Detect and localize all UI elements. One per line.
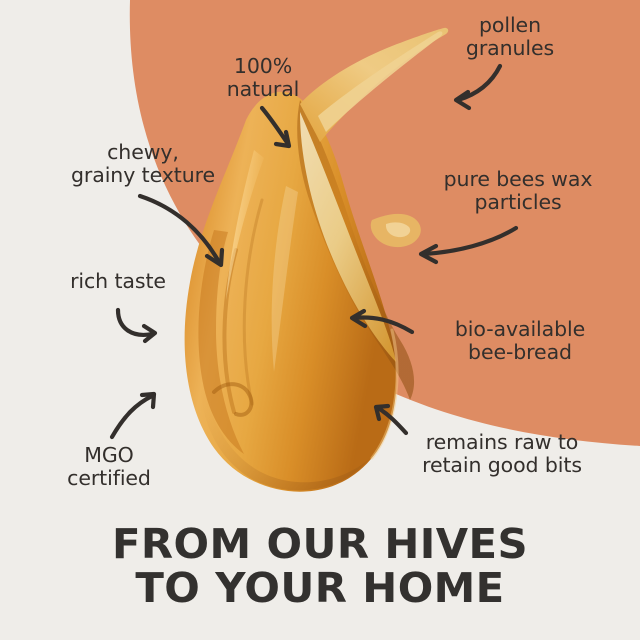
callout-label-rich-taste: rich taste <box>48 270 188 293</box>
arrow-down-right-icon <box>262 108 289 146</box>
poster-canvas: 100% natural pollen granules chewy, grai… <box>0 0 640 640</box>
arrow-up-left-icon <box>376 406 406 433</box>
callout-label-natural: 100% natural <box>188 55 338 102</box>
arrow-curve-down-right-icon <box>140 196 222 265</box>
arrow-down-left-icon <box>456 66 500 108</box>
callout-label-mgo-certified: MGO certified <box>48 444 170 491</box>
callout-label-bio-available-bee-bread: bio-available bee-bread <box>414 318 626 365</box>
headline-text: FROM OUR HIVES TO YOUR HOME <box>0 523 640 611</box>
callout-label-pure-bees-wax-particles: pure bees wax particles <box>410 168 626 215</box>
arrow-up-right-icon <box>112 394 154 437</box>
arrow-left-icon <box>352 311 412 332</box>
callout-label-chewy-grainy-texture: chewy, grainy texture <box>48 141 238 188</box>
arrow-curve-left-icon <box>421 228 516 262</box>
arrow-hook-right-icon <box>118 310 155 341</box>
callout-label-pollen-granules: pollen granules <box>420 14 600 61</box>
callout-label-remains-raw: remains raw to retain good bits <box>386 431 618 478</box>
